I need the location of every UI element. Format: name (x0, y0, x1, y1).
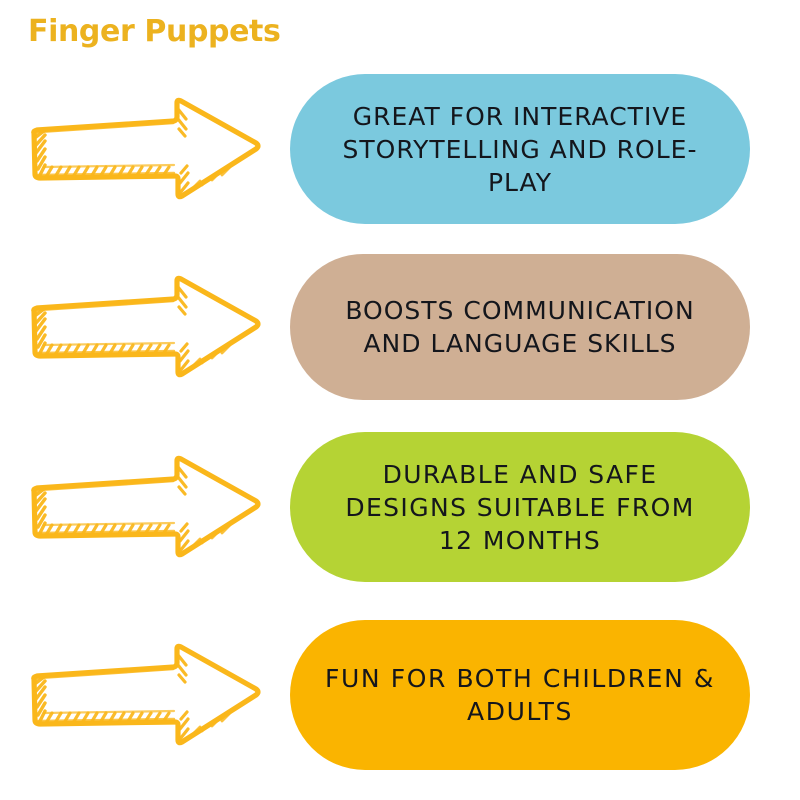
benefit-text: Boosts communication and language skills (324, 294, 716, 360)
benefit-pill: Fun for both children & adults (290, 620, 750, 770)
benefit-row: Boosts communication and language skills (0, 254, 800, 400)
benefit-text: Durable and safe designs suitable from 1… (324, 458, 716, 557)
finger-puppets-infographic: Finger Puppets (0, 0, 800, 800)
hand-drawn-right-arrow-icon (24, 455, 262, 559)
hand-drawn-right-arrow-icon (24, 97, 262, 201)
benefit-text: Fun for both children & adults (324, 662, 716, 728)
benefit-row: Great for interactive storytelling and r… (0, 74, 800, 224)
hand-drawn-right-arrow-icon (24, 643, 262, 747)
benefit-row: Durable and safe designs suitable from 1… (0, 432, 800, 582)
page-title: Finger Puppets (28, 14, 280, 49)
benefit-pill: Boosts communication and language skills (290, 254, 750, 400)
hand-drawn-right-arrow-icon (24, 275, 262, 379)
benefit-pill: Durable and safe designs suitable from 1… (290, 432, 750, 582)
benefit-pill: Great for interactive storytelling and r… (290, 74, 750, 224)
benefit-row: Fun for both children & adults (0, 620, 800, 770)
benefit-text: Great for interactive storytelling and r… (324, 100, 716, 199)
